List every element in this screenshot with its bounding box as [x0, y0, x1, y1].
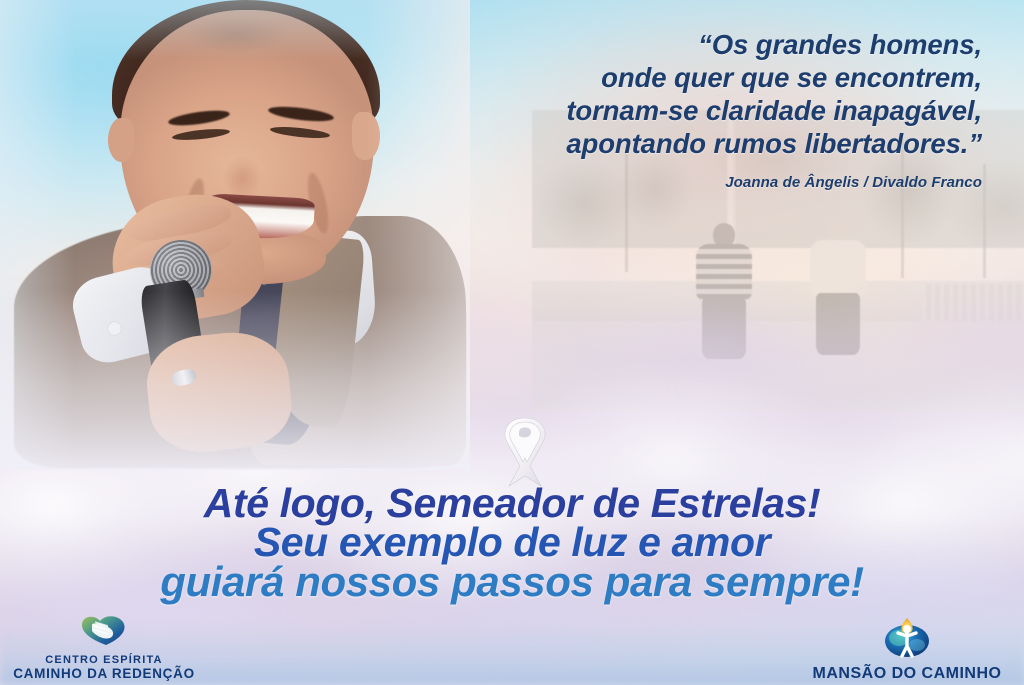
- headline-line-1: Até logo, Semeador de Estrelas!: [0, 484, 1024, 523]
- portrait-top-fade: [0, 0, 470, 60]
- cuff-button: [108, 322, 121, 335]
- ear-right: [352, 112, 380, 160]
- headline-line-2: Seu exemplo de luz e amor: [0, 523, 1024, 562]
- logo-left-text: CENTRO ESPÍRITA CAMINHO DA REDENÇÃO: [13, 654, 195, 680]
- headline-line-3: guiará nossos passos para sempre!: [0, 562, 1024, 601]
- logo-right-line-1: MANSÃO DO CAMINHO: [813, 667, 1002, 680]
- logo-centro-espirita: CENTRO ESPÍRITA CAMINHO DA REDENÇÃO: [6, 613, 202, 680]
- quote-line-1: “Os grandes homens,: [422, 28, 982, 61]
- logo-mansao-do-caminho: MANSÃO DO CAMINHO: [796, 614, 1018, 680]
- hands-heart-emblem-icon: [76, 613, 132, 652]
- headline-block: Até logo, Semeador de Estrelas! Seu exem…: [0, 484, 1024, 601]
- quote-line-4: apontando rumos libertadores.”: [422, 127, 982, 160]
- quote-line-2: onde quer que se encontrem,: [422, 61, 982, 94]
- quote-block: “Os grandes homens, onde quer que se enc…: [422, 28, 982, 191]
- quote-line-3: tornam-se claridade inapagável,: [422, 94, 982, 127]
- portrait-photo: [0, 0, 470, 470]
- globe-figure-flame-emblem-icon: [881, 614, 933, 665]
- memorial-poster: “Os grandes homens, onde quer que se enc…: [0, 0, 1024, 685]
- nose: [222, 146, 268, 198]
- mourning-ribbon-icon: [489, 412, 561, 490]
- quote-attribution: Joanna de Ângelis / Divaldo Franco: [422, 174, 982, 191]
- ear-left: [108, 118, 134, 162]
- logo-right-text: MANSÃO DO CAMINHO: [813, 667, 1002, 680]
- logo-left-line-2: CAMINHO DA REDENÇÃO: [13, 667, 195, 680]
